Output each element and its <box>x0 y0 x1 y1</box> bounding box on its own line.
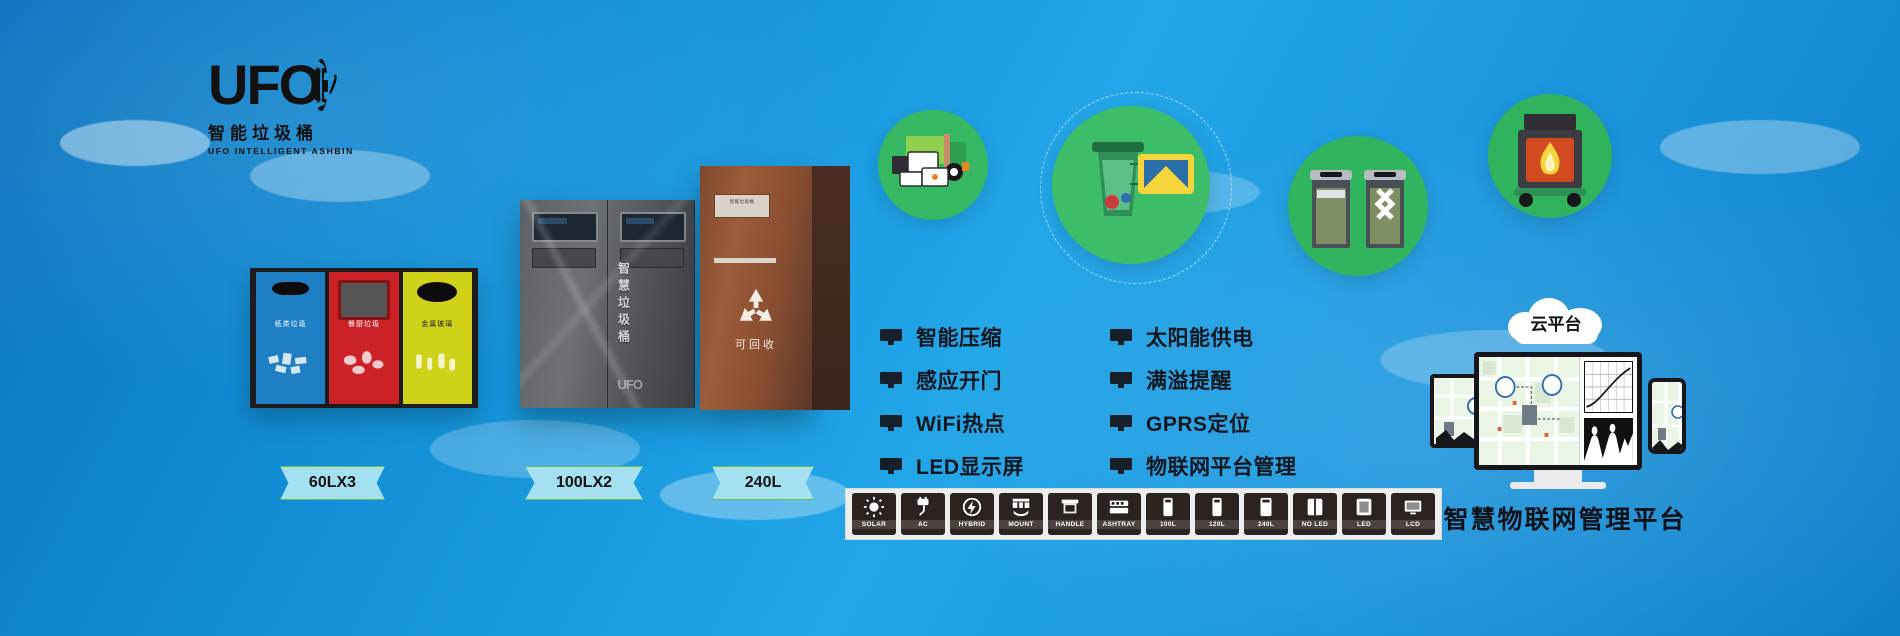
waste-door <box>532 248 596 268</box>
compartment-label: 金属玻璃 <box>403 319 472 329</box>
monitor-bullet-icon <box>880 329 902 345</box>
bin-body <box>329 334 398 404</box>
feature-item: WiFi热点 <box>880 408 1024 438</box>
map-view <box>1652 382 1682 450</box>
compartment-label: 餐厨垃圾 <box>329 319 398 329</box>
spec-label: AC <box>901 520 945 529</box>
fire-detection-icon <box>1488 94 1612 218</box>
feature-label: WiFi热点 <box>916 408 1005 438</box>
spec-item-handle: HANDLE <box>1048 493 1092 535</box>
bin-120l-icon <box>1204 496 1230 518</box>
feature-circle-fire-alarm <box>1488 94 1612 218</box>
twin-bin-side-text: 智慧垃圾桶 <box>616 262 633 347</box>
feature-label: 感应开门 <box>916 365 1002 395</box>
area-chart <box>1584 418 1633 461</box>
feature-column-left: 智能压缩 感应开门 WiFi热点 LED显示屏 <box>880 322 1024 481</box>
power-plug-icon <box>910 496 936 518</box>
wall-mount-icon <box>1008 496 1034 518</box>
brand-logo: UFO 智能垃圾桶 UFO INTELLIGENT ASHBIN <box>208 54 328 154</box>
bin-compartment-paper: 纸类垃圾 <box>256 272 325 404</box>
spec-label: SOLAR <box>852 520 896 529</box>
monitor-base <box>1510 482 1606 489</box>
feature-item: 物联网平台管理 <box>1110 451 1297 481</box>
spec-item-240l: 240L <box>1244 493 1288 535</box>
spec-label: NO LED <box>1293 520 1337 529</box>
feature-circle-solar-bin <box>1052 106 1210 264</box>
feature-label: 太阳能供电 <box>1146 322 1254 352</box>
spec-label: LED <box>1342 520 1386 529</box>
feature-item: 感应开门 <box>880 365 1024 395</box>
handle-icon <box>1057 496 1083 518</box>
product-banner: UFO 智能垃圾桶 UFO INTELLIGENT ASHBIN 纸类垃圾 <box>0 0 1900 636</box>
twin-bin-right: 智慧垃圾桶 UFO <box>608 200 696 408</box>
product-single-bin: 智能垃圾桶 可回收 <box>700 166 812 410</box>
feature-label: LED显示屏 <box>916 451 1024 481</box>
spec-label: 240L <box>1244 520 1288 529</box>
spec-label: HYBRID <box>950 520 994 529</box>
monitor-bullet-icon <box>1110 458 1132 474</box>
monitor-bullet-icon <box>880 372 902 388</box>
cloud-decoration <box>1660 120 1860 174</box>
product-twin-bin: 智慧垃圾桶 UFO <box>520 200 695 408</box>
display-screen <box>532 212 598 242</box>
solar-bin-icon <box>1052 106 1210 264</box>
screen-text: 智能垃圾桶 <box>715 195 769 205</box>
metal-glass-waste-graphic <box>410 342 465 384</box>
spec-icon-strip: SOLAR AC HYBRID MOUNT HANDLE <box>845 488 1442 540</box>
device-desktop-monitor <box>1474 352 1642 470</box>
spec-item-mount: MOUNT <box>999 493 1043 535</box>
twin-compaction-bin-icon <box>1288 136 1428 276</box>
ufo-ring-icon <box>314 59 328 111</box>
feature-label: 物联网平台管理 <box>1146 451 1297 481</box>
no-led-icon <box>1302 496 1328 518</box>
garbage-truck-icon <box>878 110 988 220</box>
growth-curve-graphic <box>1585 362 1632 412</box>
bin-side-panel <box>812 166 850 410</box>
logo-name-en: UFO INTELLIGENT ASHBIN <box>208 146 328 156</box>
logo-mark: UFO <box>208 54 328 116</box>
bin-door-label: 可回收 <box>700 336 812 352</box>
waste-slot-icon <box>272 282 309 295</box>
product-triple-bin: 纸类垃圾 餐厨垃圾 <box>250 268 478 408</box>
spec-item-no-led: NO LED <box>1293 493 1337 535</box>
twin-bin-brand-mark: UFO <box>618 377 642 392</box>
bin-compartment-kitchen: 餐厨垃圾 <box>329 272 398 404</box>
led-panel-icon <box>1351 496 1377 518</box>
spec-item-solar: SOLAR <box>852 493 896 535</box>
spec-item-led: LED <box>1342 493 1386 535</box>
bin-100l-icon <box>1155 496 1181 518</box>
spec-item-ashtray: ASHTRAY <box>1097 493 1141 535</box>
spec-label: ASHTRAY <box>1097 520 1141 529</box>
platform-caption: 智慧物联网管理平台 <box>1420 500 1710 536</box>
paper-waste-graphic <box>263 342 318 384</box>
status-bar <box>714 258 776 263</box>
feature-item: 满溢提醒 <box>1110 365 1297 395</box>
bin-top: 金属玻璃 <box>403 272 472 334</box>
spec-label: 100L <box>1146 520 1190 529</box>
spec-label: 120L <box>1195 520 1239 529</box>
twin-bin-left <box>520 200 608 408</box>
display-screen <box>620 212 686 242</box>
spec-item-ac: AC <box>901 493 945 535</box>
capacity-label-single: 240L <box>712 466 814 500</box>
feature-item: 太阳能供电 <box>1110 322 1297 352</box>
map-dashboard-panel <box>1479 357 1580 465</box>
cloud-platform-tag: 云平台 <box>1508 296 1604 346</box>
compartment-label: 纸类垃圾 <box>256 319 325 329</box>
feature-circle-compaction <box>1288 136 1428 276</box>
cloud-decoration <box>60 120 210 166</box>
spec-item-120l: 120L <box>1195 493 1239 535</box>
display-screen: 智能垃圾桶 <box>714 194 770 218</box>
city-map-graphic <box>1479 357 1580 465</box>
spec-label: HANDLE <box>1048 520 1092 529</box>
feature-item: LED显示屏 <box>880 451 1024 481</box>
feature-item: 智能压缩 <box>880 322 1024 352</box>
logo-wordmark: UFO <box>208 57 320 113</box>
monitor-bullet-icon <box>1110 372 1132 388</box>
bin-top: 餐厨垃圾 <box>329 272 398 334</box>
cloud-decoration <box>250 150 430 202</box>
monitor-bullet-icon <box>880 458 902 474</box>
feature-circle-collection-truck <box>878 110 988 220</box>
feature-column-right: 太阳能供电 满溢提醒 GPRS定位 物联网平台管理 <box>1110 322 1297 481</box>
population-area-graphic <box>1584 418 1633 461</box>
analytics-panel <box>1579 357 1637 465</box>
device-smartphone <box>1648 378 1686 454</box>
feature-label: 满溢提醒 <box>1146 365 1232 395</box>
recycle-icon <box>730 284 782 332</box>
ashtray-icon <box>1106 496 1132 518</box>
monitor-bullet-icon <box>1110 415 1132 431</box>
bin-body <box>256 334 325 404</box>
waste-slot-icon <box>417 282 457 302</box>
monitor-bullet-icon <box>1110 329 1132 345</box>
sun-icon <box>861 496 887 518</box>
iot-platform-illustration <box>1430 352 1686 488</box>
feature-list: 智能压缩 感应开门 WiFi热点 LED显示屏 太阳能供电 满溢提醒 <box>880 322 1297 481</box>
feature-label: 智能压缩 <box>916 322 1002 352</box>
map-graphic <box>1652 382 1686 454</box>
bin-240l-icon <box>1253 496 1279 518</box>
feature-label: GPRS定位 <box>1146 408 1251 438</box>
monitor-bullet-icon <box>880 415 902 431</box>
capacity-label-twin: 100LX2 <box>525 466 643 500</box>
spec-label: MOUNT <box>999 520 1043 529</box>
hybrid-power-icon <box>959 496 985 518</box>
line-chart <box>1584 361 1633 413</box>
bin-compartment-metal-glass: 金属玻璃 <box>403 272 472 404</box>
waste-slot-icon <box>338 280 390 320</box>
logo-name-cn: 智能垃圾桶 <box>208 119 328 144</box>
cloud-platform-label: 云平台 <box>1508 310 1604 335</box>
kitchen-waste-graphic <box>336 342 391 384</box>
feature-item: GPRS定位 <box>1110 408 1297 438</box>
capacity-label-triple: 60LX3 <box>280 466 385 500</box>
spec-item-hybrid: HYBRID <box>950 493 994 535</box>
monitor-stand <box>1534 470 1582 482</box>
spec-item-100l: 100L <box>1146 493 1190 535</box>
bin-top: 纸类垃圾 <box>256 272 325 334</box>
bin-body <box>403 334 472 404</box>
